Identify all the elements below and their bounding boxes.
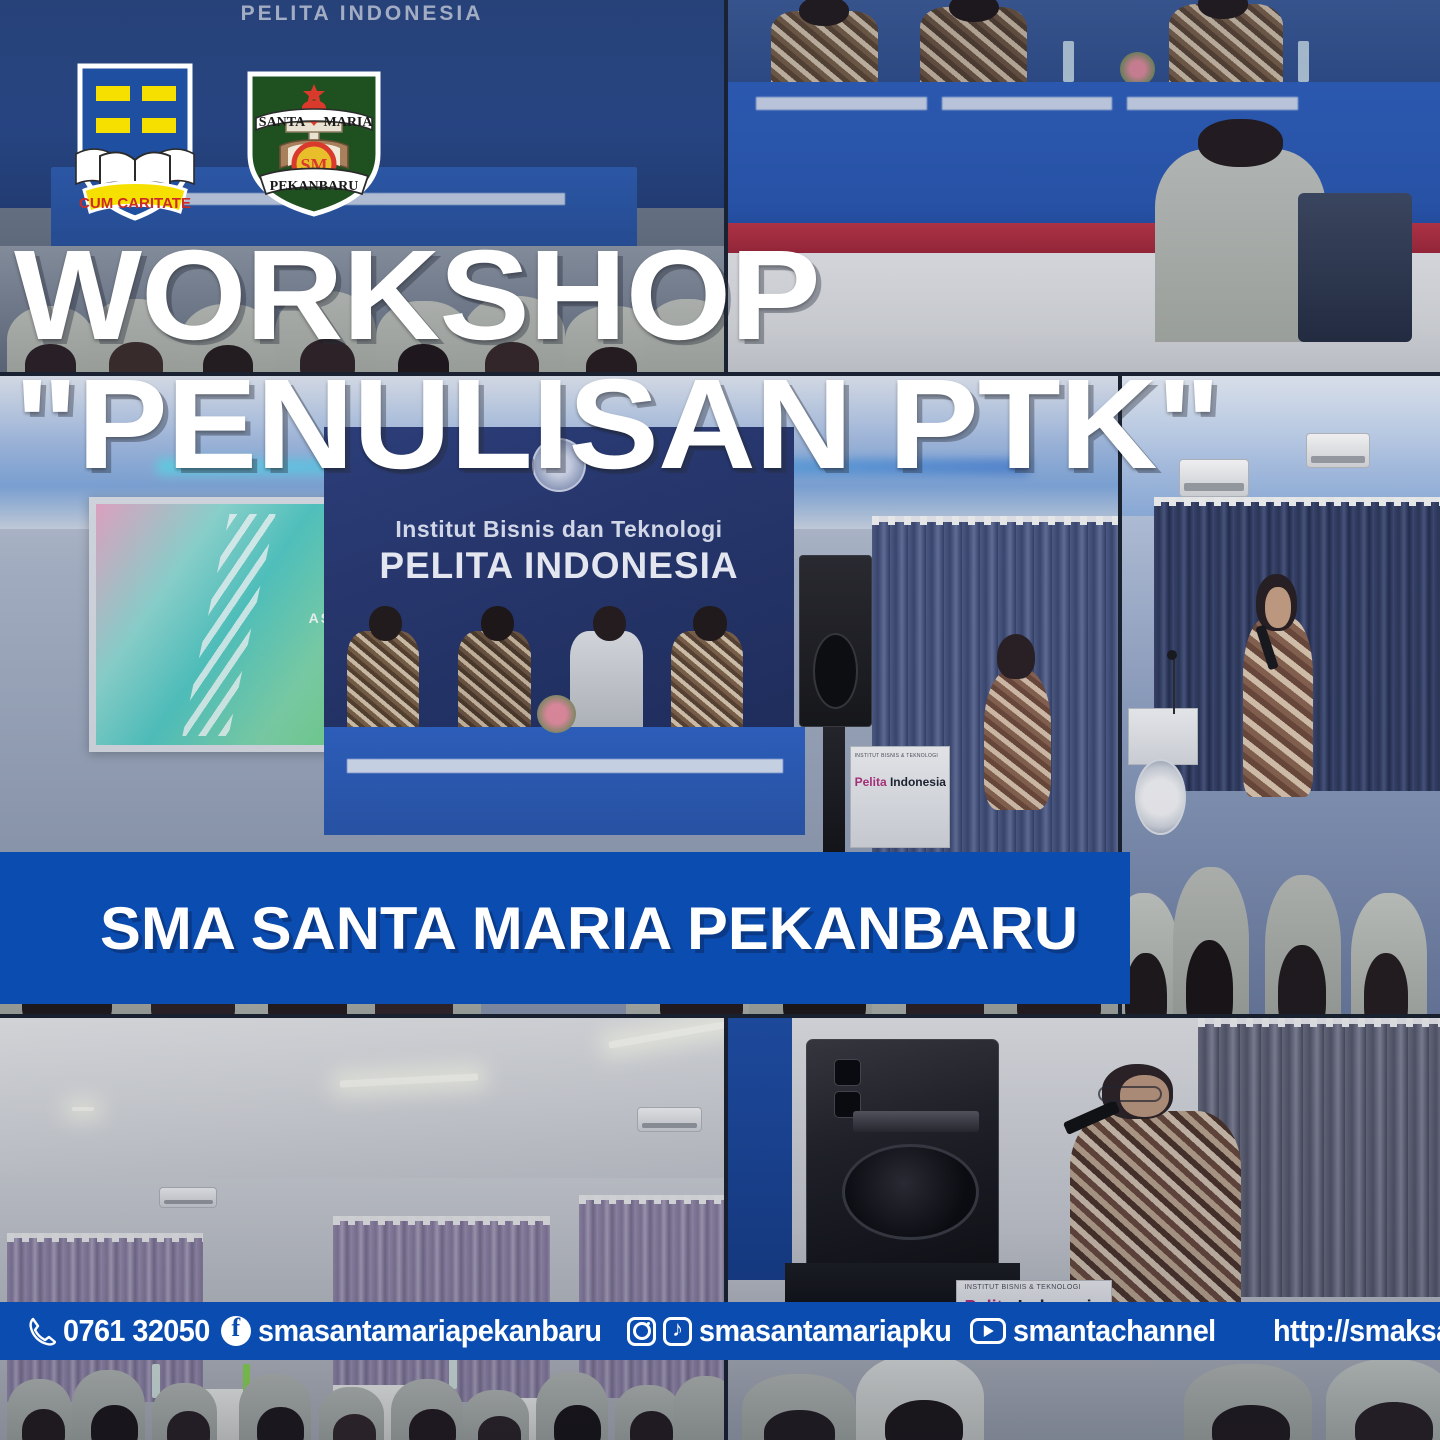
podium-brand-pelita: Pelita <box>855 775 887 789</box>
youtube-contact[interactable]: smantachannel <box>970 1313 1231 1349</box>
foreground-participant-head <box>1198 119 1283 167</box>
contact-footer-bar: 0761 32050 smasantamariapekanbaru smasan… <box>0 1302 1440 1360</box>
facebook-icon <box>221 1316 251 1346</box>
loudspeaker <box>799 555 872 727</box>
instagram-tiktok-contact[interactable]: smasantamariapku <box>627 1313 970 1349</box>
air-conditioner <box>1306 433 1370 468</box>
curtain-rings <box>1198 1018 1440 1027</box>
backdrop-banner-text: PELITA INDONESIA <box>0 2 724 26</box>
phone-icon <box>28 1316 56 1346</box>
curtain-rings <box>579 1195 724 1204</box>
poster-headline: WORKSHOP "PENULISAN PTK" <box>14 236 1234 484</box>
curtain-rings <box>872 516 1118 525</box>
chair-back <box>1298 193 1412 342</box>
facebook-handle: smasantamariapekanbaru <box>258 1313 601 1349</box>
podium-mic-head <box>1167 650 1177 660</box>
phone-number: 0761 32050 <box>63 1313 210 1349</box>
eyeglasses-icon <box>1098 1086 1162 1103</box>
flower-arrangement <box>1120 52 1156 85</box>
podium-brand-line: Pelita Indonesia <box>855 775 946 789</box>
speaker-handle <box>834 1059 861 1087</box>
panelist-4-head <box>693 606 727 641</box>
singer-body <box>984 669 1051 809</box>
loudspeaker <box>806 1039 998 1271</box>
instagram-tiktok-handle: smasantamariapku <box>699 1313 951 1349</box>
speaker-horn <box>853 1111 979 1132</box>
school-name-banner: SMA SANTA MARIA PEKANBARU <box>0 852 1130 1004</box>
backdrop-line-2: PELITA INDONESIA <box>324 545 794 587</box>
logo-text-maria: MARIA <box>324 115 374 130</box>
instagram-icon[interactable] <box>627 1317 656 1346</box>
podium-brand-indonesia: Indonesia <box>890 775 946 789</box>
youtube-handle: smantachannel <box>1013 1313 1216 1349</box>
ceiling-light <box>72 1107 94 1111</box>
curtain-rings <box>7 1233 202 1242</box>
panelist-3 <box>570 631 643 727</box>
air-conditioner <box>159 1187 217 1208</box>
water-bottle <box>1063 41 1074 82</box>
audience-heads <box>1122 797 1440 1014</box>
cum-caritate-motto: CUM CARITATE <box>79 195 191 212</box>
poster-canvas: PELITA INDONESIA <box>0 0 1440 1440</box>
backdrop-line-1: Institut Bisnis dan Teknologi <box>324 516 794 543</box>
website-link[interactable]: http://smaksantamariapekanbaru.com <box>1273 1313 1440 1349</box>
podium-mic-stem <box>1173 657 1175 714</box>
panelist-2-head <box>481 606 515 641</box>
singer-dress <box>1243 618 1313 797</box>
singer-face <box>1265 587 1290 628</box>
photo-bottom-left <box>0 1018 724 1440</box>
speaker-woofer <box>842 1144 979 1241</box>
podium-institution-line: INSTITUT BISNIS & TEKNOLOGI <box>965 1284 1081 1291</box>
panelist-2 <box>458 631 531 727</box>
table-drape <box>756 97 927 164</box>
logo-text-santa: SANTA <box>259 115 306 130</box>
panelist-1 <box>347 631 420 727</box>
phone-contact[interactable]: 0761 32050 <box>28 1313 221 1349</box>
podium-sign <box>1128 708 1198 765</box>
logo-text-pekanbaru: PEKANBARU <box>270 179 359 194</box>
podium-institution-line: INSTITUT BISNIS & TEKNOLOGI <box>855 753 939 759</box>
facebook-contact[interactable]: smasantamariapekanbaru <box>221 1313 627 1349</box>
table-drape <box>942 97 1113 164</box>
headline-line-1: WORKSHOP <box>14 236 1307 355</box>
youtube-icon <box>970 1318 1006 1344</box>
panelist-4 <box>671 631 744 727</box>
screen-stripe-pattern <box>182 514 275 736</box>
headline-line-2: "PENULISAN PTK" <box>14 365 1307 484</box>
singer-head <box>997 634 1035 679</box>
water-bottle <box>1298 41 1309 82</box>
santa-maria-pekanbaru-logo: SANTA MARIA SM PEKANBARU <box>240 68 388 218</box>
air-conditioner <box>637 1107 702 1132</box>
tiktok-icon[interactable] <box>663 1317 692 1346</box>
curtain-rings <box>333 1216 550 1225</box>
curtain-rings <box>1154 497 1440 506</box>
website-url: http://smaksantamariapekanbaru.com <box>1273 1313 1440 1349</box>
flower-arrangement <box>537 695 576 733</box>
cum-caritate-shield-logo: CUM CARITATE <box>70 62 200 222</box>
blue-wall-panel <box>728 1018 792 1280</box>
photo-bottom-right: INSTITUT BISNIS & TEKNOLOGI Pelita Indon… <box>728 1018 1440 1440</box>
school-name-text: SMA SANTA MARIA PEKANBARU <box>100 894 1078 963</box>
panelist-1-head <box>369 606 403 641</box>
panelist-3-head <box>593 606 627 641</box>
